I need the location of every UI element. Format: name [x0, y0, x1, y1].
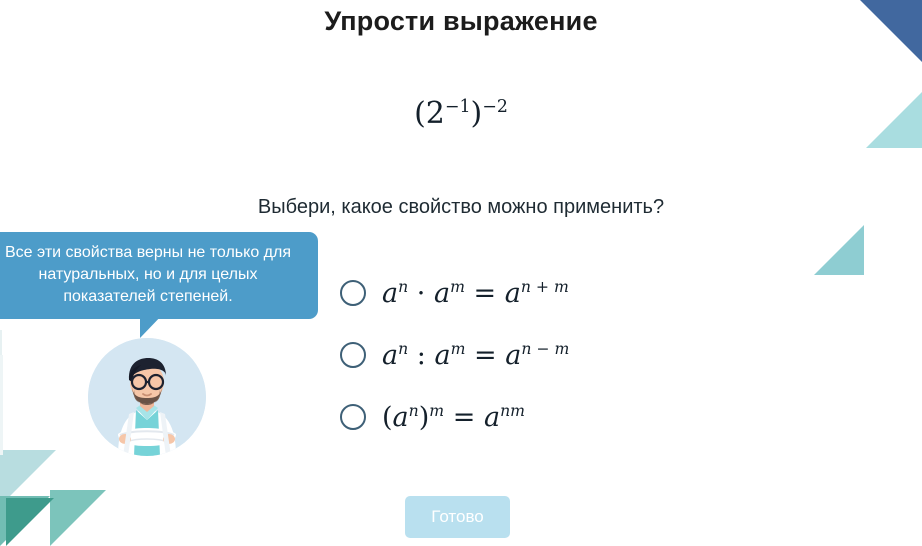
- expression-close-paren: ): [471, 96, 483, 131]
- math-expression: (2−1)−2: [0, 96, 922, 131]
- hint-bubble-text: Все эти свойства верны не только для нат…: [5, 244, 291, 305]
- page-title: Упрости выражение: [0, 6, 922, 37]
- option-product-rule[interactable]: an · am = an + m: [340, 262, 770, 324]
- decor-triangle-bottom-left-wide: [50, 490, 106, 546]
- formula-equals: =: [444, 402, 484, 433]
- teacher-avatar: [88, 338, 206, 456]
- formula-exponent-1: n: [398, 277, 408, 296]
- decor-triangle-bottom-left-dark: [6, 498, 54, 546]
- formula-operator: ·: [408, 278, 434, 309]
- hint-bubble-tail: [140, 312, 165, 338]
- decor-left-rule-secondary: [0, 355, 3, 455]
- question-prompt: Выбери, какое свойство можно применить?: [0, 196, 922, 219]
- formula-base-2: a: [434, 340, 450, 371]
- formula-result-exponent: nm: [500, 401, 525, 420]
- formula-exponent-1: n: [409, 401, 419, 420]
- submit-button[interactable]: Готово: [405, 496, 510, 538]
- formula-result-exponent: n + m: [521, 277, 569, 296]
- option-product-rule-formula: an · am = an + m: [382, 278, 569, 309]
- expression-outer-exponent: −2: [482, 97, 508, 117]
- answer-options: an · am = an + m an : am = an − m (an)m …: [340, 262, 770, 448]
- option-quotient-rule-formula: an : am = an − m: [382, 340, 569, 371]
- radio-button-power-rule[interactable]: [340, 404, 366, 430]
- option-power-rule-formula: (an)m = anm: [382, 402, 525, 433]
- formula-base-1: a: [393, 402, 409, 433]
- expression-base-open: (2: [414, 96, 445, 131]
- formula-base-1: a: [382, 278, 398, 309]
- formula-exponent-1: n: [398, 339, 408, 358]
- formula-open-paren: (: [382, 402, 393, 433]
- decor-triangle-right-teal: [814, 225, 864, 275]
- option-quotient-rule[interactable]: an : am = an − m: [340, 324, 770, 386]
- formula-close-paren: ): [419, 402, 430, 433]
- radio-button-quotient-rule[interactable]: [340, 342, 366, 368]
- lesson-screen: Упрости выражение (2−1)−2 Выбери, какое …: [0, 0, 922, 546]
- formula-equals: =: [465, 278, 505, 309]
- formula-result-base: a: [484, 402, 500, 433]
- radio-button-product-rule[interactable]: [340, 280, 366, 306]
- formula-result-base: a: [505, 340, 521, 371]
- formula-outer-exponent: m: [429, 401, 444, 420]
- expression-inner-exponent: −1: [445, 97, 471, 117]
- hint-bubble: Все эти свойства верны не только для нат…: [0, 232, 318, 319]
- formula-exponent-2: m: [450, 277, 465, 296]
- formula-result-base: a: [505, 278, 521, 309]
- formula-base-1: a: [382, 340, 398, 371]
- teacher-avatar-illustration: [88, 338, 206, 456]
- formula-result-exponent: n − m: [521, 339, 569, 358]
- option-power-rule[interactable]: (an)m = anm: [340, 386, 770, 448]
- formula-exponent-2: m: [451, 339, 466, 358]
- formula-equals: =: [465, 340, 505, 371]
- formula-base-2: a: [434, 278, 450, 309]
- formula-operator: :: [408, 340, 434, 371]
